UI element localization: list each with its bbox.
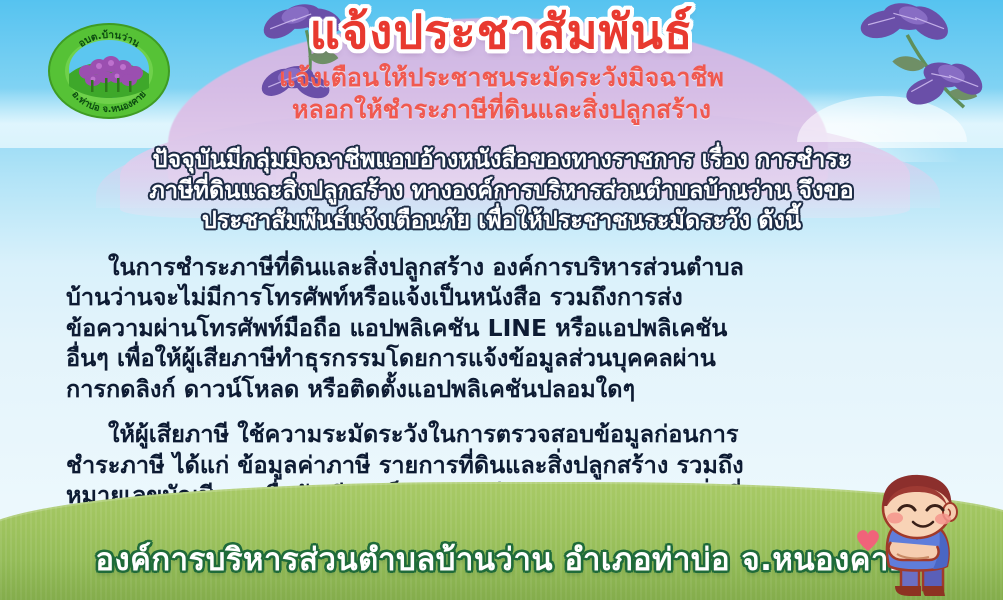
detail-line-2: บ้านว่านจะไม่มีการโทรศัพท์หรือแจ้งเป็นหน…: [66, 282, 985, 313]
detail-line-1: ในการชำระภาษีที่ดินและสิ่งปลูกสร้าง องค์…: [66, 252, 985, 283]
detail-line-3: ข้อความผ่านโทรศัพท์มือถือ แอปพลิเคชัน LI…: [66, 313, 985, 344]
mascot-boy-illustration: [843, 472, 993, 600]
subtitle-line-1: แจ้งเตือนให้ประชาชนระมัดระวังมิจฉาชีพ: [0, 62, 1003, 94]
subtitle-block: แจ้งเตือนให้ประชาชนระมัดระวังมิจฉาชีพ หล…: [0, 62, 1003, 126]
advice-line-1: ให้ผู้เสียภาษี ใช้ความระมัดระวังในการตรว…: [66, 419, 985, 450]
paragraph-intro: ปัจจุบันมีกลุ่มมิจฉาชีพแอบอ้างหนังสือของ…: [0, 144, 1003, 236]
intro-line-3: ประชาสัมพันธ์แจ้งเตือนภัย เพื่อให้ประชาช…: [18, 205, 985, 236]
detail-line-4: อื่นๆ เพื่อให้ผู้เสียภาษีทำธุรกรรมโดยการ…: [66, 343, 985, 374]
advice-line-1-text: ให้ผู้เสียภาษี ใช้ความระมัดระวังในการตรว…: [108, 420, 739, 448]
subtitle-line-2: หลอกให้ชำระภาษีที่ดินและสิ่งปลูกสร้าง: [0, 94, 1003, 126]
headline-block: แจ้งประชาสัมพันธ์ แจ้งเตือนให้ประชาชนระม…: [0, 8, 1003, 126]
paragraph-detail: ในการชำระภาษีที่ดินและสิ่งปลูกสร้าง องค์…: [0, 252, 1003, 405]
announcement-poster: อบต.บ้านว่าน อ.ท่าบ่อ จ.หนองคาย แจ้งประช…: [0, 0, 1003, 600]
intro-line-2: ภาษีที่ดินและสิ่งปลูกสร้าง ทางองค์การบริ…: [18, 175, 985, 206]
detail-line-5: การกดลิงก์ ดาวน์โหลด หรือติดตั้งแอปพลิเค…: [66, 374, 985, 405]
page-title: แจ้งประชาสัมพันธ์: [0, 8, 1003, 58]
detail-line-1-text: ในการชำระภาษีที่ดินและสิ่งปลูกสร้าง องค์…: [108, 253, 744, 281]
intro-line-1: ปัจจุบันมีกลุ่มมิจฉาชีพแอบอ้างหนังสือของ…: [18, 144, 985, 175]
